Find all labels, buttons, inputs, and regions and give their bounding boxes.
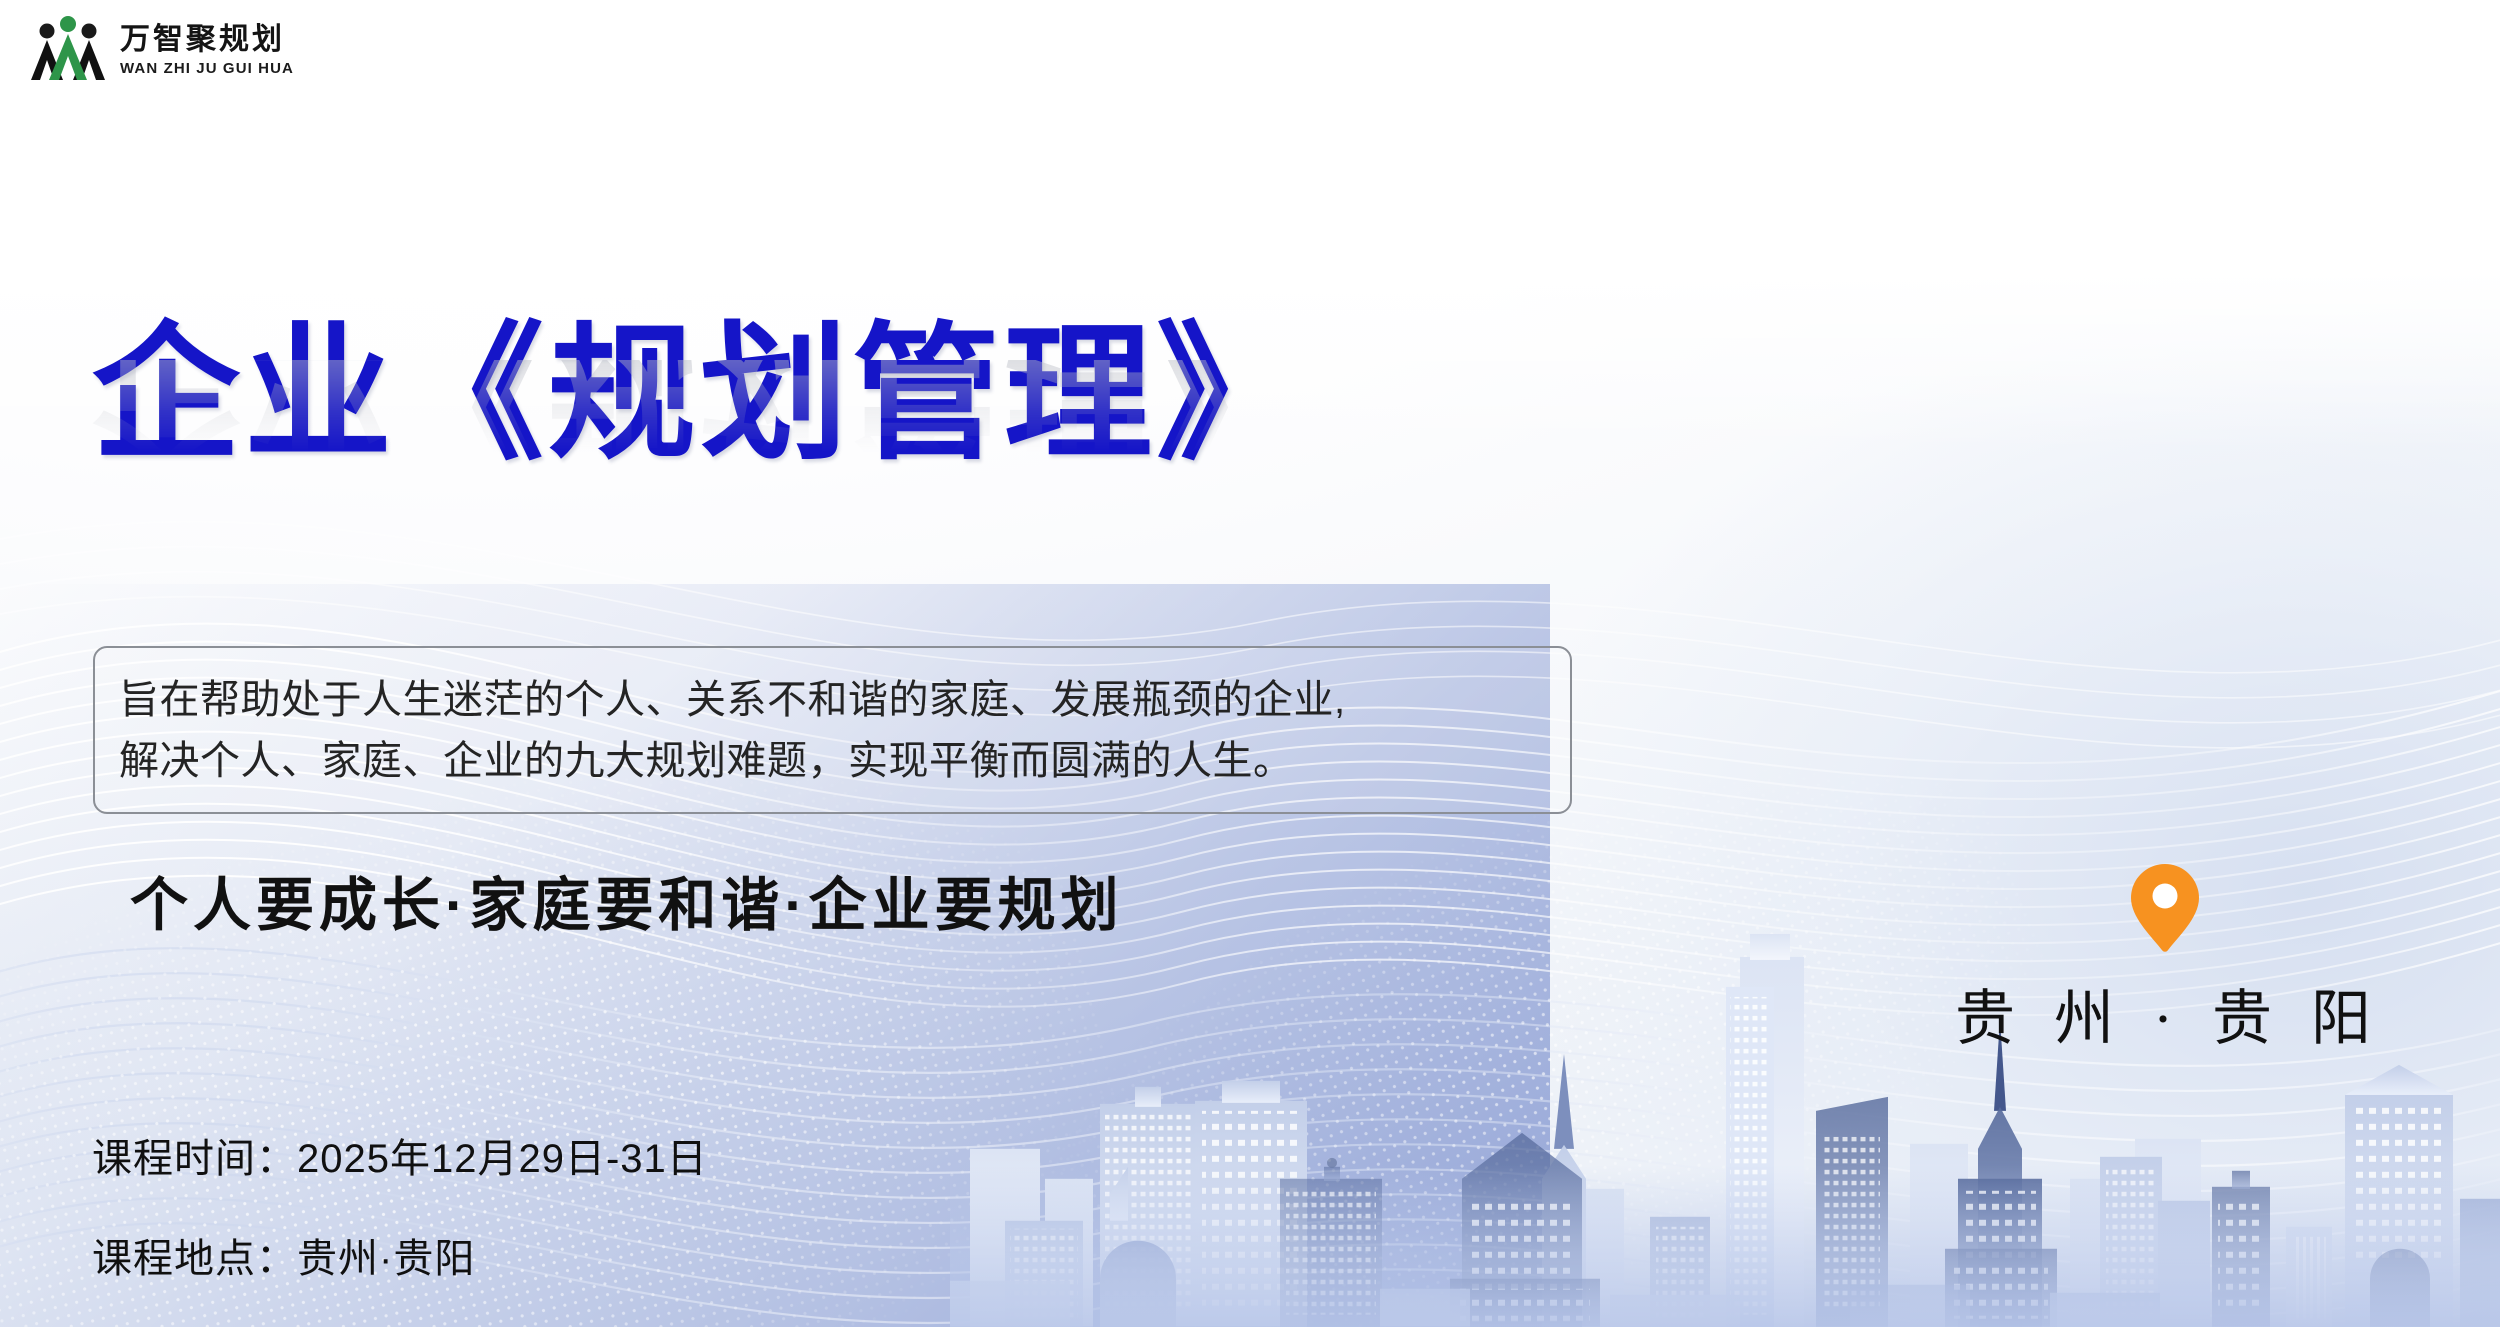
logo-text-block: 万智聚规划 WAN ZHI JU GUI HUA [120,25,294,76]
course-time-line: 课程时间：2025年12月29日-31日 [92,1126,708,1184]
brand-logo[interactable]: 万智聚规划 WAN ZHI JU GUI HUA [30,14,294,86]
page-title-block: 企业《规划管理》 企业《规划管理》 [92,318,1612,596]
logo-name-en: WAN ZHI JU GUI HUA [120,61,294,76]
logo-name-cn: 万智聚规划 [120,25,294,55]
description-line-2: 解决个人、家庭、企业的九大规划难题，实现平衡而圆满的人生。 [119,731,1544,792]
location-block: 贵 州 · 贵 阳 [1955,862,2375,1057]
location-label: 贵 州 · 贵 阳 [1955,970,2375,1057]
description-line-1: 旨在帮助处于人生迷茫的个人、关系不和谐的家庭、发展瓶颈的企业, [119,670,1544,731]
course-place-line: 课程地点：贵州·贵阳 [92,1226,708,1284]
poster-canvas: 万智聚规划 WAN ZHI JU GUI HUA 企业《规划管理》 企业《规划管… [0,0,2500,1327]
three-people-logo-icon [30,14,106,86]
schedule-block: 课程时间：2025年12月29日-31日 课程地点：贵州·贵阳 [92,1126,708,1284]
page-title-reflection: 企业《规划管理》 [92,360,1612,478]
slogan-text: 个人要成长·家庭要和谐·企业要规划 [130,858,1124,942]
description-box: 旨在帮助处于人生迷茫的个人、关系不和谐的家庭、发展瓶颈的企业, 解决个人、家庭、… [93,646,1572,814]
map-pin-icon [2128,862,2202,954]
